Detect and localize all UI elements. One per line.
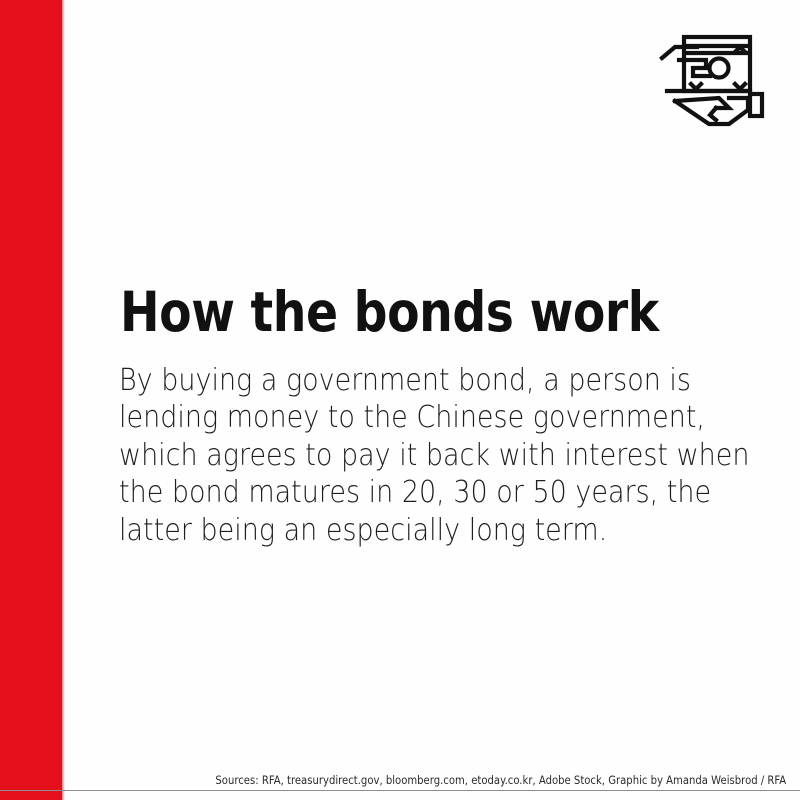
- body-line: lending money to the Chinese government,: [119, 399, 739, 436]
- body-line: the bond matures in 20, 30 or 50 years, …: [119, 474, 739, 511]
- hand-cuff: [750, 94, 762, 116]
- body-paragraph: By buying a government bond, a person is…: [119, 362, 739, 549]
- banknote-corner-right: [735, 84, 745, 89]
- banknote-corner-left: [691, 84, 701, 89]
- body-line: latter being an especially long term.: [119, 512, 739, 549]
- sources-credit: Sources: RFA, treasurydirect.gov, bloomb…: [215, 774, 786, 788]
- body-line: which agrees to pay it back with interes…: [119, 437, 739, 474]
- cash-in-hand-icon: [657, 24, 773, 129]
- accent-red-bar: [0, 0, 62, 800]
- body-line: By buying a government bond, a person is: [119, 362, 739, 399]
- page-title: How the bonds work: [120, 281, 659, 343]
- infographic-card: How the bonds work By buying a governmen…: [0, 0, 800, 800]
- cash-in-hand-icon-svg: [657, 24, 773, 129]
- footer-divider: [0, 790, 800, 791]
- banknote-seal: [710, 59, 729, 78]
- hand-fingers: [710, 108, 716, 120]
- accent-red-bar-edge: [62, 0, 65, 800]
